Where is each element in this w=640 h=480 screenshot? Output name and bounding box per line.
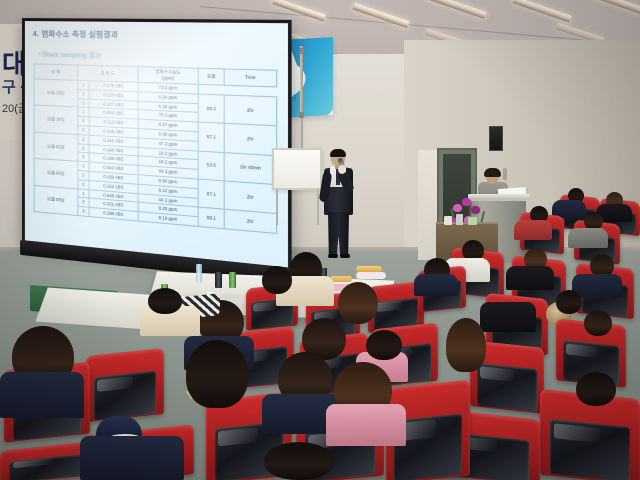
food-plate xyxy=(356,272,386,279)
table-cell: 88.1 xyxy=(198,208,224,229)
auditorium-photo: 대 구 · 20(금) ❄ ❄ ❄ 발표회 표회 대구대학교 환경공학과 4. … xyxy=(0,0,640,480)
presenter-shoe xyxy=(340,254,350,258)
table-cell: 10월 30일 xyxy=(34,105,78,134)
podium-person-hair xyxy=(484,168,501,177)
audience-shoulders xyxy=(506,266,554,290)
seat[interactable] xyxy=(86,348,164,422)
presentation-slide: 4. 염화수소 측정 실험결과 • Stack sampling 결과 날 짜흡… xyxy=(25,21,288,268)
presenter-trousers xyxy=(328,212,349,256)
audience-head xyxy=(446,318,486,372)
wall-speaker xyxy=(489,126,503,151)
table-header-cell: 효율 xyxy=(198,68,224,85)
table-cell: 10월 29일 xyxy=(34,79,78,108)
table-cell: 3 xyxy=(78,207,89,217)
whiteboard-leg xyxy=(276,189,278,225)
snack-food xyxy=(356,266,382,272)
audience-head xyxy=(576,372,616,406)
presenter xyxy=(316,150,360,260)
table-cell: 1hr 40min xyxy=(224,152,276,184)
drink-can xyxy=(229,272,236,288)
slide-bullet: • Stack sampling 결과 xyxy=(39,48,101,60)
table-header-cell: Time xyxy=(224,69,276,87)
table-cell: 2hr xyxy=(224,123,276,155)
table-cell: 1 xyxy=(78,80,89,89)
banner-clip xyxy=(299,48,304,54)
table-body: 10월 29일10.279 ABS73.2 ppm20.116 ABS8.94 … xyxy=(34,79,277,234)
audience-head xyxy=(556,290,582,314)
presenter-hand xyxy=(338,165,346,174)
audience-shoulders xyxy=(480,302,536,332)
projection-screen: 4. 염화수소 측정 실험결과 • Stack sampling 결과 날 짜흡… xyxy=(22,18,292,301)
audience-shoulders xyxy=(0,372,84,418)
water-bottle xyxy=(196,264,202,283)
table-cell: 11월 02일 xyxy=(34,132,78,162)
table-cell: 3 xyxy=(78,98,89,108)
audience-head xyxy=(148,288,182,314)
banner-pole xyxy=(300,46,303,158)
audience-head xyxy=(262,266,292,294)
audience-head xyxy=(264,442,334,480)
table-cell: 2hr xyxy=(224,95,276,126)
whiteboard xyxy=(272,148,322,190)
banner-clip xyxy=(299,112,304,118)
table-cell: 88.3 xyxy=(198,94,224,124)
audience-shoulders xyxy=(80,436,184,480)
cabinet-item xyxy=(456,214,463,225)
table-cell: 2hr xyxy=(224,181,276,214)
drink-can xyxy=(215,272,222,288)
table-cell: 2hr xyxy=(224,210,276,234)
table-header-cell: 날 짜 xyxy=(34,64,78,80)
audience-shoulders xyxy=(414,274,458,296)
table-cell: 87.1 xyxy=(198,179,224,210)
audience-head xyxy=(584,310,612,336)
orchid-bloom xyxy=(462,198,471,206)
table-cell: 52.6 xyxy=(198,151,224,181)
table-cell: 11월 06일 xyxy=(34,159,78,189)
table-cell: 11월 09일 xyxy=(34,185,78,216)
slide-title: 4. 염화수소 측정 실험결과 xyxy=(33,28,118,40)
orchid-bloom xyxy=(453,204,462,212)
cabinet-item xyxy=(468,217,477,225)
table-cell: 2 xyxy=(78,89,89,98)
screen-frame: 4. 염화수소 측정 실험결과 • Stack sampling 결과 날 짜흡… xyxy=(22,18,292,272)
presenter-shoe xyxy=(328,254,338,258)
audience-head xyxy=(186,340,248,408)
table-cell: 87.1 xyxy=(198,122,224,152)
cabinet-item xyxy=(444,216,452,225)
audience-shoulders xyxy=(514,220,552,240)
presenter-hair xyxy=(330,149,346,157)
slide-data-table: 날 짜흡 광 도염화수소농도(ppm)효율Time 10월 29일10.279 … xyxy=(34,63,278,234)
audience-shoulders xyxy=(326,404,406,446)
orchid-bloom xyxy=(471,206,480,214)
audience-shoulders xyxy=(568,228,608,248)
audience-head xyxy=(366,330,402,360)
audience-head xyxy=(338,282,378,324)
